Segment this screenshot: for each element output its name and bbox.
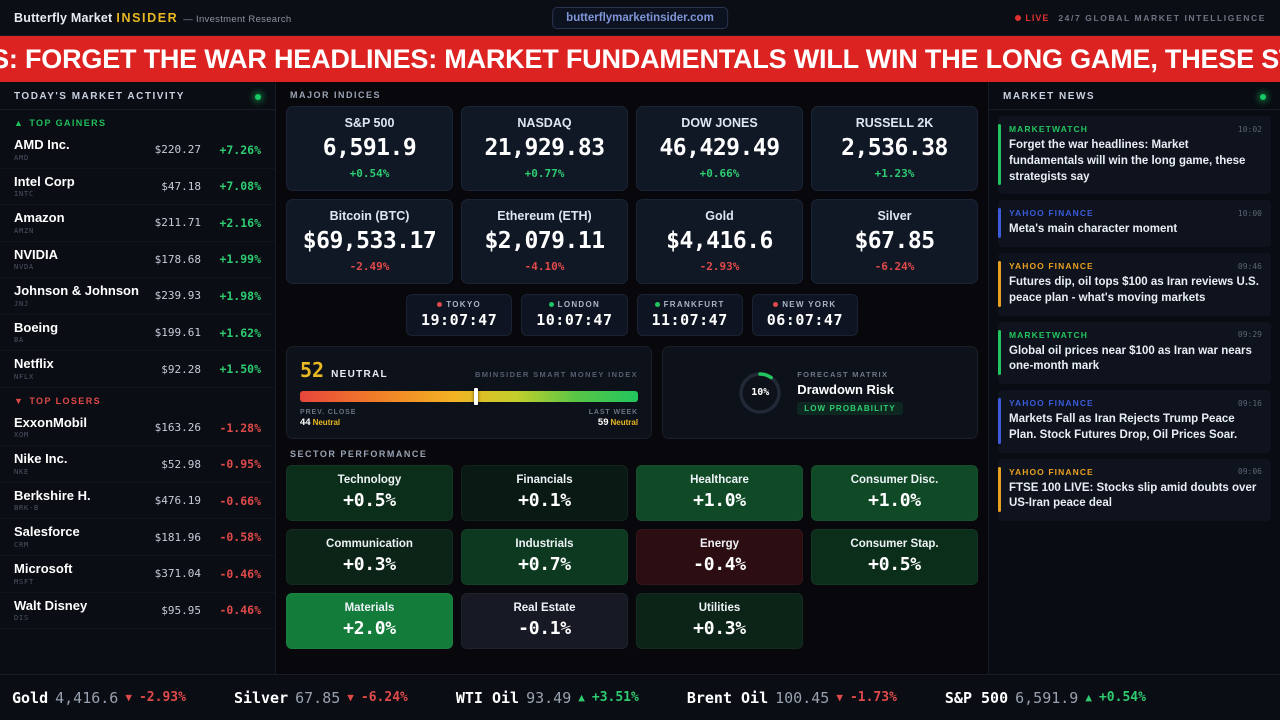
brand-logo: Butterfly MarketINSIDER— Investment Rese… — [14, 11, 291, 25]
mover-name-block: NVIDIANVDA — [14, 248, 149, 272]
mover-ticker: DIS — [14, 614, 155, 622]
sector-card[interactable]: Energy-0.4% — [636, 529, 803, 585]
sentiment-score: 52 — [300, 358, 324, 382]
mover-name-block: SalesforceCRM — [14, 525, 149, 549]
news-headline: Markets Fall as Iran Rejects Trump Peace… — [1009, 412, 1262, 444]
mover-row[interactable]: Berkshire H.BRK-B$476.19-0.66% — [0, 483, 275, 520]
sector-card[interactable]: Healthcare+1.0% — [636, 465, 803, 521]
mover-company: AMD Inc. — [14, 138, 149, 153]
sector-value: +1.0% — [641, 490, 798, 511]
live-label: LIVE — [1025, 13, 1049, 23]
index-card[interactable]: DOW JONES46,429.49+0.66% — [636, 106, 803, 191]
sentiment-gauge-bar — [300, 391, 638, 402]
mover-price: $476.19 — [155, 494, 201, 507]
mover-price: $52.98 — [161, 458, 201, 471]
mover-row[interactable]: NVIDIANVDA$178.68+1.99% — [0, 242, 275, 279]
prev-close-value: 44Neutral — [300, 417, 356, 428]
mover-ticker: BA — [14, 336, 149, 344]
index-name: S&P 500 — [293, 116, 446, 130]
ticker-value: 6,591.9 — [1015, 689, 1078, 707]
mover-company: Intel Corp — [14, 175, 155, 190]
clock-city-row: LONDON — [536, 300, 612, 309]
sector-card[interactable]: Consumer Stap.+0.5% — [811, 529, 978, 585]
index-value: 21,929.83 — [468, 135, 621, 161]
index-name: Gold — [643, 209, 796, 223]
index-card[interactable]: S&P 5006,591.9+0.54% — [286, 106, 453, 191]
mover-name-block: BoeingBA — [14, 321, 149, 345]
mover-row[interactable]: Walt DisneyDIS$95.95-0.46% — [0, 593, 275, 630]
sector-name: Real Estate — [466, 602, 623, 614]
index-change: -2.49% — [293, 260, 446, 273]
mover-price: $178.68 — [155, 253, 201, 266]
mover-row[interactable]: Intel CorpINTC$47.18+7.08% — [0, 169, 275, 206]
index-value: $4,416.6 — [643, 228, 796, 254]
sector-name: Utilities — [641, 602, 798, 614]
market-status-dot-icon — [437, 302, 442, 307]
news-time: 10:02 — [1238, 125, 1262, 134]
top-bar: Butterfly MarketINSIDER— Investment Rese… — [0, 0, 1280, 36]
sector-value: +2.0% — [291, 618, 448, 639]
mover-ticker: NKE — [14, 468, 155, 476]
top-bar-right: LIVE 24/7 GLOBAL MARKET INTELLIGENCE — [1015, 13, 1266, 23]
world-clock: FRANKFURT11:07:47 — [637, 294, 743, 336]
news-source: YAHOO FINANCE — [1009, 208, 1094, 218]
mover-ticker: AMD — [14, 154, 149, 162]
mover-ticker: BRK-B — [14, 504, 149, 512]
index-card[interactable]: RUSSELL 2K2,536.38+1.23% — [811, 106, 978, 191]
news-source-accent-bar — [998, 124, 1001, 185]
news-meta: YAHOO FINANCE10:00 — [1009, 208, 1262, 218]
top-gainers-header: ▲ TOP GAINERS — [0, 110, 275, 132]
ticker-value: 100.45 — [775, 689, 829, 707]
sector-card[interactable]: Utilities+0.3% — [636, 593, 803, 649]
ticker-arrow-icon: ▼ — [125, 691, 132, 704]
live-dot-icon — [1015, 15, 1021, 21]
ticker-change: -2.93% — [139, 690, 186, 705]
mover-company: NVIDIA — [14, 248, 149, 263]
ticker-change: +3.51% — [592, 690, 639, 705]
triangle-down-icon: ▼ — [14, 396, 24, 406]
news-time: 09:46 — [1238, 262, 1262, 271]
index-value: 6,591.9 — [293, 135, 446, 161]
mover-price: $239.93 — [155, 289, 201, 302]
mover-change: -0.58% — [207, 530, 261, 544]
index-change: +0.77% — [468, 167, 621, 180]
world-clock: LONDON10:07:47 — [521, 294, 627, 336]
mover-ticker: AMZN — [14, 227, 149, 235]
index-change: -4.10% — [468, 260, 621, 273]
news-body: YAHOO FINANCE09:06FTSE 100 LIVE: Stocks … — [1009, 467, 1262, 513]
mover-company: Boeing — [14, 321, 149, 336]
live-indicator: LIVE — [1015, 13, 1049, 23]
mover-row[interactable]: MicrosoftMSFT$371.04-0.46% — [0, 556, 275, 593]
index-name: Silver — [818, 209, 971, 223]
ticker-name: Brent Oil — [687, 689, 768, 707]
mover-name-block: NetflixNFLX — [14, 357, 155, 381]
index-value: $69,533.17 — [293, 228, 446, 254]
sector-name: Materials — [291, 602, 448, 614]
live-status-dot-icon — [255, 94, 261, 100]
market-status-dot-icon — [549, 302, 554, 307]
mover-change: +7.08% — [207, 179, 261, 193]
mover-change: +1.99% — [207, 252, 261, 266]
market-activity-panel: TODAY'S MARKET ACTIVITY ▲ TOP GAINERS AM… — [0, 82, 276, 674]
mover-company: Johnson & Johnson — [14, 284, 149, 299]
sector-value: -0.4% — [641, 554, 798, 575]
clock-time: 10:07:47 — [536, 311, 612, 329]
clock-time: 06:07:47 — [767, 311, 843, 329]
top-gainers-list: AMD Inc.AMD$220.27+7.26%Intel CorpINTC$4… — [0, 132, 275, 388]
market-activity-header: TODAY'S MARKET ACTIVITY — [0, 82, 275, 110]
tagline: 24/7 GLOBAL MARKET INTELLIGENCE — [1058, 13, 1266, 23]
news-item[interactable]: YAHOO FINANCE10:00Meta's main character … — [998, 200, 1271, 247]
index-name: Bitcoin (BTC) — [293, 209, 446, 223]
center-inner: MAJOR INDICES S&P 5006,591.9+0.54%NASDAQ… — [276, 90, 988, 649]
mover-name-block: Johnson & JohnsonJNJ — [14, 284, 149, 308]
mover-company: Netflix — [14, 357, 155, 372]
mover-row[interactable]: ExxonMobilXOM$163.26-1.28% — [0, 410, 275, 447]
prev-close-caption: PREV. CLOSE — [300, 409, 356, 416]
clock-city-name: TOKYO — [446, 300, 481, 309]
sentiment-forecast-row: 52 NEUTRAL BMINSIDER SMART MONEY INDEX P… — [286, 346, 978, 439]
index-value: $2,079.11 — [468, 228, 621, 254]
news-time: 10:00 — [1238, 209, 1262, 218]
ticker-name: Silver — [234, 689, 288, 707]
sector-card[interactable]: Technology+0.5% — [286, 465, 453, 521]
sector-value: +0.3% — [641, 618, 798, 639]
mover-change: -0.46% — [207, 567, 261, 581]
index-name: DOW JONES — [643, 116, 796, 130]
news-headline: Meta's main character moment — [1009, 222, 1262, 238]
news-headline: FTSE 100 LIVE: Stocks slip amid doubts o… — [1009, 481, 1262, 513]
ticker-value: 4,416.6 — [55, 689, 118, 707]
ticker-item: WTI Oil93.49▲+3.51% — [456, 689, 639, 707]
news-meta: YAHOO FINANCE09:06 — [1009, 467, 1262, 477]
bottom-ticker-bar: Gold4,416.6▼-2.93%Silver67.85▼-6.24%WTI … — [0, 674, 1280, 720]
forecast-caption: FORECAST MATRIX — [797, 370, 903, 379]
sector-value: +1.0% — [816, 490, 973, 511]
ticker-value: 93.49 — [526, 689, 571, 707]
news-meta: YAHOO FINANCE09:46 — [1009, 261, 1262, 271]
mover-company: Salesforce — [14, 525, 149, 540]
news-source-accent-bar — [998, 467, 1001, 513]
dashboard-root: Butterfly MarketINSIDER— Investment Rese… — [0, 0, 1280, 720]
site-url-pill[interactable]: butterflymarketinsider.com — [552, 7, 728, 29]
mover-ticker: JNJ — [14, 300, 149, 308]
ticker-name: Gold — [12, 689, 48, 707]
index-change: -6.24% — [818, 260, 971, 273]
news-source-accent-bar — [998, 208, 1001, 238]
mover-change: -0.66% — [207, 494, 261, 508]
last-week-value: 59Neutral — [589, 417, 638, 428]
forecast-text-block: FORECAST MATRIX Drawdown Risk LOW PROBAB… — [797, 370, 903, 416]
sector-name: Consumer Disc. — [816, 474, 973, 486]
ticker-arrow-icon: ▼ — [836, 691, 843, 704]
mover-company: Berkshire H. — [14, 489, 149, 504]
clock-city-name: NEW YORK — [782, 300, 836, 309]
mover-row[interactable]: Johnson & JohnsonJNJ$239.93+1.98% — [0, 278, 275, 315]
triangle-up-icon: ▲ — [14, 118, 24, 128]
forecast-probability-badge: LOW PROBABILITY — [797, 402, 903, 415]
sentiment-index-name: BMINSIDER SMART MONEY INDEX — [475, 370, 638, 379]
market-news-panel: MARKET NEWS MARKETWATCH10:02Forget the w… — [988, 82, 1280, 674]
news-source-accent-bar — [998, 330, 1001, 376]
mover-price: $163.26 — [155, 421, 201, 434]
index-name: Ethereum (ETH) — [468, 209, 621, 223]
clock-city-row: NEW YORK — [767, 300, 843, 309]
news-source: YAHOO FINANCE — [1009, 261, 1094, 271]
ticker-value: 67.85 — [295, 689, 340, 707]
news-body: MARKETWATCH09:29Global oil prices near $… — [1009, 330, 1262, 376]
center-column: MAJOR INDICES S&P 5006,591.9+0.54%NASDAQ… — [276, 82, 988, 674]
news-body: YAHOO FINANCE10:00Meta's main character … — [1009, 208, 1262, 238]
mover-company: Walt Disney — [14, 599, 155, 614]
mover-change: -0.95% — [207, 457, 261, 471]
news-source: YAHOO FINANCE — [1009, 398, 1094, 408]
sector-value: +0.5% — [816, 554, 973, 575]
mover-price: $220.27 — [155, 143, 201, 156]
clock-time: 11:07:47 — [652, 311, 728, 329]
mover-company: Amazon — [14, 211, 149, 226]
clock-city-row: FRANKFURT — [652, 300, 728, 309]
mover-company: Nike Inc. — [14, 452, 155, 467]
mover-ticker: MSFT — [14, 578, 149, 586]
news-body: YAHOO FINANCE09:16Markets Fall as Iran R… — [1009, 398, 1262, 444]
mover-name-block: MicrosoftMSFT — [14, 562, 149, 586]
ticker-item: S&P 5006,591.9▲+0.54% — [945, 689, 1146, 707]
mover-price: $371.04 — [155, 567, 201, 580]
news-list: MARKETWATCH10:02Forget the war headlines… — [989, 110, 1280, 674]
mover-change: -0.46% — [207, 603, 261, 617]
drawdown-risk-donut: 10% — [737, 370, 783, 416]
sector-value: -0.1% — [466, 618, 623, 639]
ticker-arrow-icon: ▲ — [1085, 691, 1092, 704]
news-headline: Futures dip, oil tops $100 as Iran revie… — [1009, 275, 1262, 307]
sector-value: +0.7% — [466, 554, 623, 575]
index-card[interactable]: Bitcoin (BTC)$69,533.17-2.49% — [286, 199, 453, 284]
sentiment-footer: PREV. CLOSE 44Neutral LAST WEEK 59Neutra… — [300, 409, 638, 428]
index-change: +1.23% — [818, 167, 971, 180]
news-headline: Global oil prices near $100 as Iran war … — [1009, 344, 1262, 376]
mover-name-block: ExxonMobilXOM — [14, 416, 149, 440]
mover-change: +1.50% — [207, 362, 261, 376]
sentiment-gauge-marker — [474, 388, 478, 405]
brand-name: Butterfly Market — [14, 11, 112, 25]
index-card[interactable]: Ethereum (ETH)$2,079.11-4.10% — [461, 199, 628, 284]
drawdown-risk-percent: 10% — [737, 370, 783, 416]
world-clock: TOKYO19:07:47 — [406, 294, 512, 336]
news-time: 09:06 — [1238, 467, 1262, 476]
ticker-change: -6.24% — [361, 690, 408, 705]
mover-company: ExxonMobil — [14, 416, 149, 431]
sector-card[interactable]: Industrials+0.7% — [461, 529, 628, 585]
news-item[interactable]: YAHOO FINANCE09:46Futures dip, oil tops … — [998, 253, 1271, 316]
sector-card[interactable]: Consumer Disc.+1.0% — [811, 465, 978, 521]
mover-name-block: Berkshire H.BRK-B — [14, 489, 149, 513]
mover-company: Microsoft — [14, 562, 149, 577]
mover-name-block: AmazonAMZN — [14, 211, 149, 235]
clock-city-row: TOKYO — [421, 300, 497, 309]
mover-row[interactable]: AmazonAMZN$211.71+2.16% — [0, 205, 275, 242]
mover-ticker: INTC — [14, 190, 155, 198]
ticker-name: WTI Oil — [456, 689, 519, 707]
market-status-dot-icon — [655, 302, 660, 307]
brand-subtitle: — Investment Research — [183, 14, 291, 25]
clock-city-name: LONDON — [558, 300, 600, 309]
ticker-name: S&P 500 — [945, 689, 1008, 707]
mover-price: $199.61 — [155, 326, 201, 339]
mover-change: +1.98% — [207, 289, 261, 303]
last-week-caption: LAST WEEK — [589, 409, 638, 416]
top-losers-list: ExxonMobilXOM$163.26-1.28%Nike Inc.NKE$5… — [0, 410, 275, 629]
news-headline: Forget the war headlines: Market fundame… — [1009, 138, 1262, 185]
sector-value: +0.1% — [466, 490, 623, 511]
news-live-dot-icon — [1260, 94, 1266, 100]
ticker-item: Brent Oil100.45▼-1.73% — [687, 689, 897, 707]
sector-name: Healthcare — [641, 474, 798, 486]
market-news-title: MARKET NEWS — [1003, 91, 1095, 102]
mover-price: $211.71 — [155, 216, 201, 229]
sector-card[interactable]: Financials+0.1% — [461, 465, 628, 521]
index-value: 2,536.38 — [818, 135, 971, 161]
news-source: YAHOO FINANCE — [1009, 467, 1094, 477]
mover-name-block: Intel CorpINTC — [14, 175, 155, 199]
sentiment-card: 52 NEUTRAL BMINSIDER SMART MONEY INDEX P… — [286, 346, 652, 439]
breaking-news-text: EWS: FORGET THE WAR HEADLINES: MARKET FU… — [0, 44, 1280, 75]
ticker-arrow-icon: ▼ — [347, 691, 354, 704]
index-card[interactable]: NASDAQ21,929.83+0.77% — [461, 106, 628, 191]
world-clocks-row: TOKYO19:07:47LONDON10:07:47FRANKFURT11:0… — [286, 294, 978, 336]
world-clock: NEW YORK06:07:47 — [752, 294, 858, 336]
index-change: -2.93% — [643, 260, 796, 273]
dashboard-body: TODAY'S MARKET ACTIVITY ▲ TOP GAINERS AM… — [0, 82, 1280, 674]
sector-performance-label: SECTOR PERFORMANCE — [286, 449, 978, 465]
sector-card[interactable]: Materials+2.0% — [286, 593, 453, 649]
breaking-news-banner: EWS: FORGET THE WAR HEADLINES: MARKET FU… — [0, 36, 1280, 82]
mover-ticker: XOM — [14, 431, 149, 439]
mover-name-block: Walt DisneyDIS — [14, 599, 155, 623]
news-item[interactable]: MARKETWATCH09:29Global oil prices near $… — [998, 322, 1271, 385]
index-change: +0.66% — [643, 167, 796, 180]
mover-price: $181.96 — [155, 531, 201, 544]
mover-price: $92.28 — [161, 363, 201, 376]
sentiment-header: 52 NEUTRAL BMINSIDER SMART MONEY INDEX — [300, 358, 638, 382]
sector-performance-grid: Technology+0.5%Financials+0.1%Healthcare… — [286, 465, 978, 649]
sector-name: Technology — [291, 474, 448, 486]
mover-row[interactable]: AMD Inc.AMD$220.27+7.26% — [0, 132, 275, 169]
mover-price: $95.95 — [161, 604, 201, 617]
sector-value: +0.5% — [291, 490, 448, 511]
top-losers-label: TOP LOSERS — [29, 396, 101, 406]
news-body: YAHOO FINANCE09:46Futures dip, oil tops … — [1009, 261, 1262, 307]
news-time: 09:16 — [1238, 399, 1262, 408]
news-item[interactable]: MARKETWATCH10:02Forget the war headlines… — [998, 116, 1271, 194]
top-gainers-label: TOP GAINERS — [29, 118, 106, 128]
ticker-change: -1.73% — [850, 690, 897, 705]
market-activity-title: TODAY'S MARKET ACTIVITY — [14, 91, 185, 102]
sector-name: Industrials — [466, 538, 623, 550]
ticker-change: +0.54% — [1099, 690, 1146, 705]
news-source-accent-bar — [998, 261, 1001, 307]
news-item[interactable]: YAHOO FINANCE09:16Markets Fall as Iran R… — [998, 390, 1271, 453]
mover-row[interactable]: BoeingBA$199.61+1.62% — [0, 315, 275, 352]
mover-ticker: NVDA — [14, 263, 149, 271]
mover-change: +2.16% — [207, 216, 261, 230]
news-body: MARKETWATCH10:02Forget the war headlines… — [1009, 124, 1262, 185]
mover-price: $47.18 — [161, 180, 201, 193]
index-value: 46,429.49 — [643, 135, 796, 161]
mover-name-block: AMD Inc.AMD — [14, 138, 149, 162]
major-indices-label: MAJOR INDICES — [286, 90, 978, 106]
sector-name: Energy — [641, 538, 798, 550]
forecast-title: Drawdown Risk — [797, 382, 903, 397]
sentiment-prev-close: PREV. CLOSE 44Neutral — [300, 409, 356, 428]
major-indices-grid: S&P 5006,591.9+0.54%NASDAQ21,929.83+0.77… — [286, 106, 978, 284]
news-time: 09:29 — [1238, 330, 1262, 339]
mover-ticker: CRM — [14, 541, 149, 549]
mover-change: +7.26% — [207, 143, 261, 157]
ticker-item: Gold4,416.6▼-2.93% — [12, 689, 186, 707]
sector-card[interactable]: Communication+0.3% — [286, 529, 453, 585]
mover-change: -1.28% — [207, 421, 261, 435]
mover-row[interactable]: Nike Inc.NKE$52.98-0.95% — [0, 446, 275, 483]
mover-name-block: Nike Inc.NKE — [14, 452, 155, 476]
index-card[interactable]: Silver$67.85-6.24% — [811, 199, 978, 284]
sentiment-last-week: LAST WEEK 59Neutral — [589, 409, 638, 428]
ticker-track: Gold4,416.6▼-2.93%Silver67.85▼-6.24%WTI … — [0, 689, 1146, 707]
index-name: RUSSELL 2K — [818, 116, 971, 130]
mover-change: +1.62% — [207, 326, 261, 340]
index-name: NASDAQ — [468, 116, 621, 130]
mover-row[interactable]: SalesforceCRM$181.96-0.58% — [0, 519, 275, 556]
market-news-header: MARKET NEWS — [989, 82, 1280, 110]
index-change: +0.54% — [293, 167, 446, 180]
mover-row[interactable]: NetflixNFLX$92.28+1.50% — [0, 351, 275, 388]
clock-time: 19:07:47 — [421, 311, 497, 329]
news-item[interactable]: YAHOO FINANCE09:06FTSE 100 LIVE: Stocks … — [998, 459, 1271, 522]
ticker-item: Silver67.85▼-6.24% — [234, 689, 408, 707]
news-source: MARKETWATCH — [1009, 124, 1088, 134]
sector-name: Communication — [291, 538, 448, 550]
news-meta: MARKETWATCH10:02 — [1009, 124, 1262, 134]
sector-name: Financials — [466, 474, 623, 486]
top-losers-header: ▼ TOP LOSERS — [0, 388, 275, 410]
brand-accent: INSIDER — [116, 11, 178, 25]
sector-value: +0.3% — [291, 554, 448, 575]
forecast-matrix-card: 10% FORECAST MATRIX Drawdown Risk LOW PR… — [662, 346, 978, 439]
index-card[interactable]: Gold$4,416.6-2.93% — [636, 199, 803, 284]
news-source: MARKETWATCH — [1009, 330, 1088, 340]
mover-ticker: NFLX — [14, 373, 155, 381]
market-status-dot-icon — [773, 302, 778, 307]
clock-city-name: FRANKFURT — [664, 300, 725, 309]
news-meta: YAHOO FINANCE09:16 — [1009, 398, 1262, 408]
sector-card[interactable]: Real Estate-0.1% — [461, 593, 628, 649]
sector-name: Consumer Stap. — [816, 538, 973, 550]
ticker-arrow-icon: ▲ — [578, 691, 585, 704]
sentiment-label: NEUTRAL — [331, 369, 388, 380]
index-value: $67.85 — [818, 228, 971, 254]
news-source-accent-bar — [998, 398, 1001, 444]
news-meta: MARKETWATCH09:29 — [1009, 330, 1262, 340]
